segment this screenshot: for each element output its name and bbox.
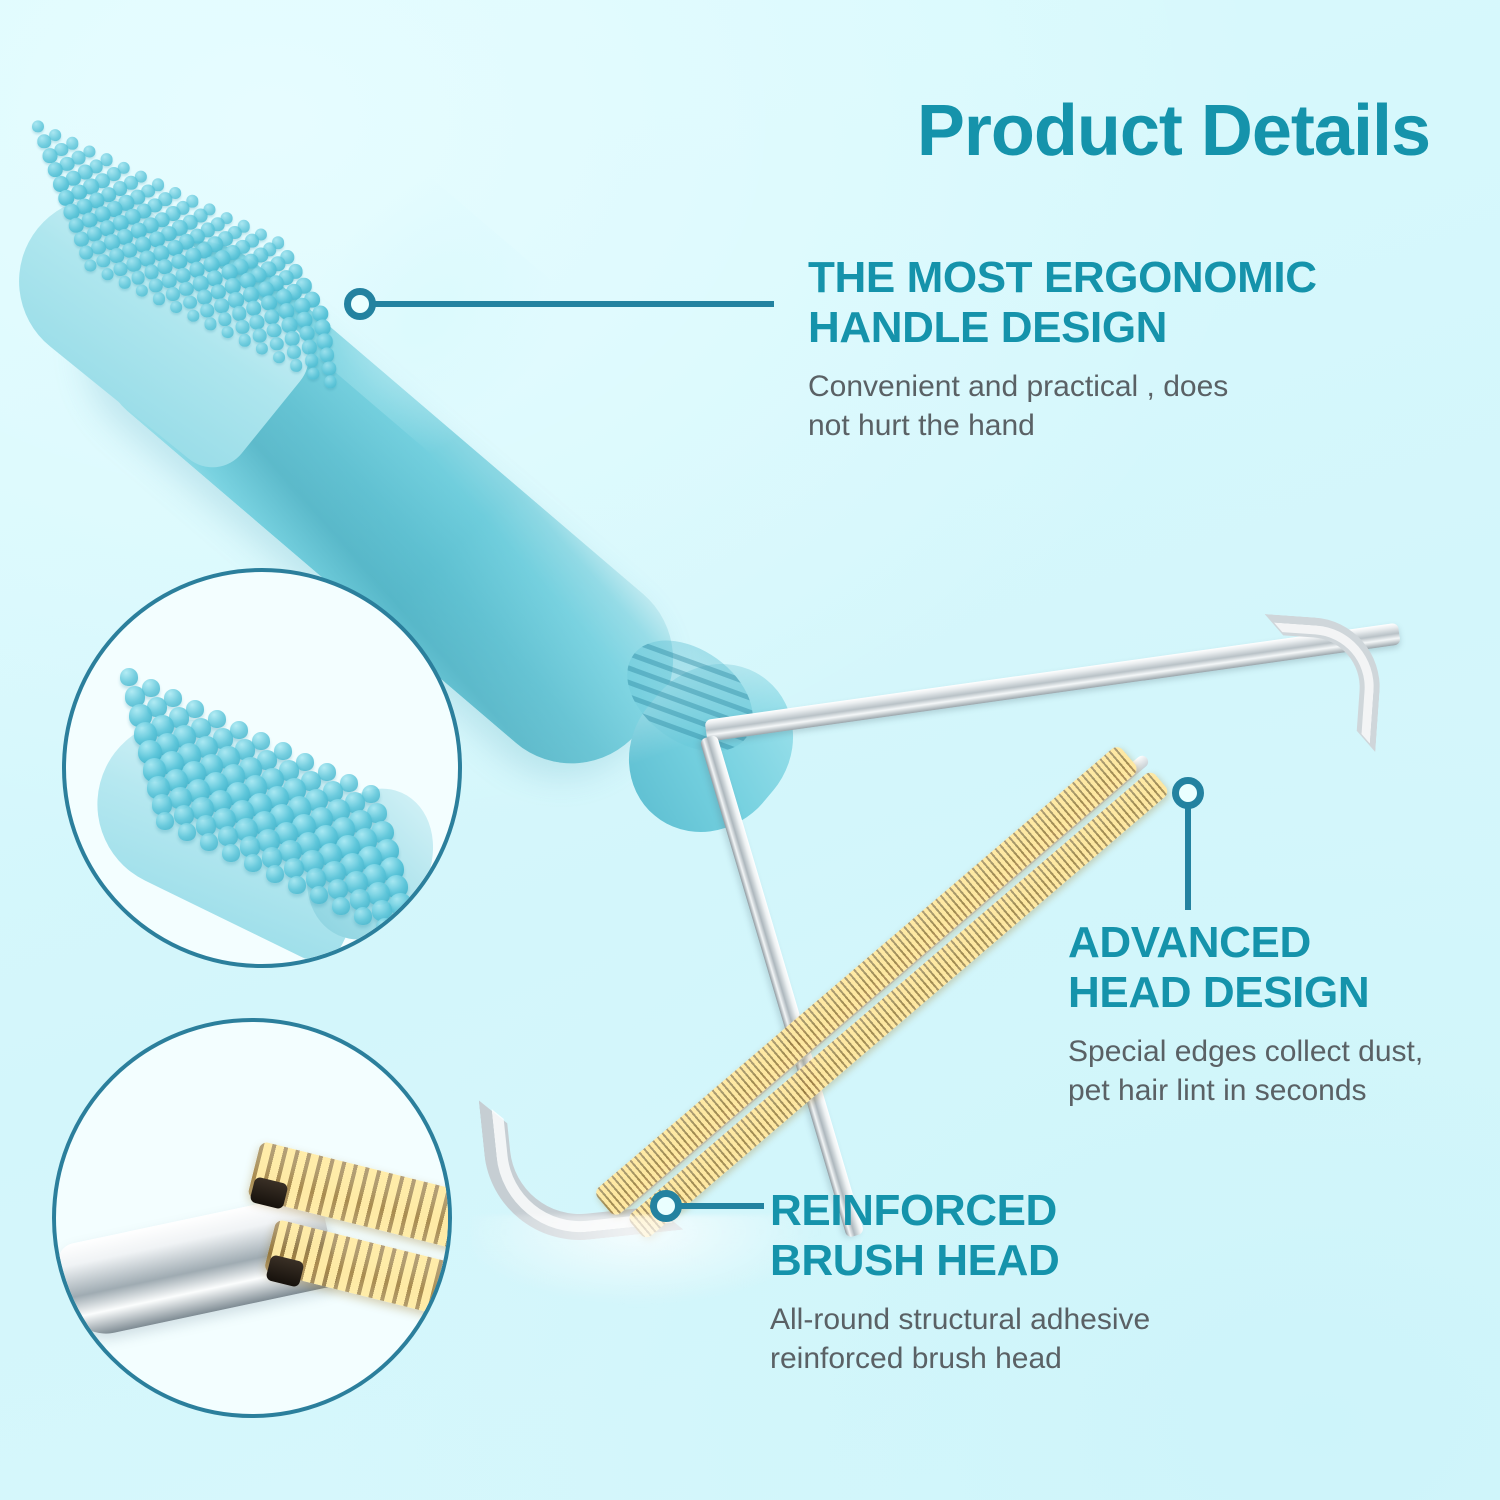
bristle-nub [264,309,280,325]
bristle-nub [322,362,336,376]
bristle-nub [174,805,195,826]
bristle-nub [156,812,174,830]
bristle-nub [310,886,328,904]
callout-2-heading: ADVANCED HEAD DESIGN [1068,918,1488,1018]
bristle-nub [178,823,196,841]
inset-gold-comb-closeup [52,1018,452,1418]
callout-3-body: All-round structural adhesive reinforced… [770,1300,1290,1378]
callout-2-heading-line-2: HEAD DESIGN [1068,968,1488,1018]
callout-2-heading-line-1: ADVANCED [1068,918,1488,968]
bristle-nub [96,254,110,268]
bristle-nub [211,284,227,300]
bristle-nub [324,376,337,389]
bristle-nub [253,328,267,342]
bristle-nub [218,312,232,326]
bristle-nub [42,148,57,163]
bristle-nub [284,331,299,346]
bristle-nub [332,897,350,915]
bristle-nub [398,929,416,947]
callout-reinforced-brush-head: REINFORCED BRUSH HEAD All-round structur… [770,1186,1290,1378]
bristle-nub [204,317,217,330]
gold-comb-strip-upper [593,744,1140,1218]
bristle-nub [249,314,264,329]
bristle-nub [37,134,51,148]
bristle-nub [354,907,372,925]
leader-line-brush-head [680,1203,764,1209]
bristle-nub [266,865,284,883]
bristle-nub [319,348,334,363]
bristle-nub [284,858,305,879]
callout-1-heading: THE MOST ERGONOMIC HANDLE DESIGN [808,253,1448,353]
callout-3-heading: REINFORCED BRUSH HEAD [770,1186,1290,1286]
bristle-nub [288,876,306,894]
callout-marker-head[interactable] [1172,777,1204,809]
bristle-nub [109,248,124,263]
callout-3-heading-line-2: BRUSH HEAD [770,1236,1290,1286]
callout-marker-handle[interactable] [344,288,376,320]
bristle-nub [302,339,317,354]
bristle-nub [287,345,301,359]
bristle-nub [79,245,93,259]
callout-marker-brush-head[interactable] [650,1190,682,1222]
bristle-nub [183,295,197,309]
bristle-nub [175,267,191,283]
callout-1-body-line-1: Convenient and practical , does [808,367,1448,406]
bristle-nub [131,270,145,284]
callout-2-body-line-1: Special edges collect dust, [1068,1032,1488,1071]
bristle-nub [305,353,319,367]
callout-3-heading-line-1: REINFORCED [770,1186,1290,1236]
callout-2-body: Special edges collect dust, pet hair lin… [1068,1032,1488,1110]
silicone-bristle-head [7,87,342,393]
bristle-nub [244,854,262,872]
infographic-canvas: Product Details [0,0,1500,1500]
inset-silicone-bristle-closeup [62,568,462,968]
bristle-nub [235,320,249,334]
callout-2-body-line-2: pet hair lint in seconds [1068,1071,1488,1110]
bristle-nub [74,232,89,247]
bristle-nub [376,918,394,936]
bristle-nub [214,298,229,313]
callout-1-body: Convenient and practical , does not hurt… [808,367,1448,445]
callout-ergonomic-handle: THE MOST ERGONOMIC HANDLE DESIGN Conveni… [808,253,1448,445]
bristle-nub [299,325,315,341]
bristle-nub [307,367,320,380]
bristle-nub [200,833,218,851]
bristle-nub [394,911,415,932]
bristle-nub [232,306,247,321]
callout-1-heading-line-1: THE MOST ERGONOMIC [808,253,1448,303]
callout-3-body-line-1: All-round structural adhesive [770,1300,1290,1339]
leader-line-head [1185,806,1191,910]
bristle-nub [166,287,180,301]
bristle-nub [153,293,166,306]
bristle-nub [126,256,141,271]
bristle-nub [162,273,177,288]
callout-advanced-head: ADVANCED HEAD DESIGN Special edges colle… [1068,918,1488,1110]
bristle-nub [32,120,45,133]
callout-1-body-line-2: not hurt the hand [808,406,1448,445]
bristle-nub [144,265,159,280]
bristle-nub [222,844,240,862]
bristle-nub [120,668,138,686]
bristle-nub [119,276,132,289]
page-title: Product Details [770,95,1430,168]
bristle-nub [148,279,162,293]
callout-3-body-line-2: reinforced brush head [770,1339,1290,1378]
bristle-nub [270,337,284,351]
bristle-nub [261,295,277,311]
bristle-nub [239,334,252,347]
leader-line-handle [374,301,774,307]
bristle-nub [290,359,303,372]
bristle-nub [201,304,215,318]
bristle-nub [114,262,128,276]
bristle-nub [197,290,212,305]
callout-1-heading-line-2: HANDLE DESIGN [808,303,1448,353]
